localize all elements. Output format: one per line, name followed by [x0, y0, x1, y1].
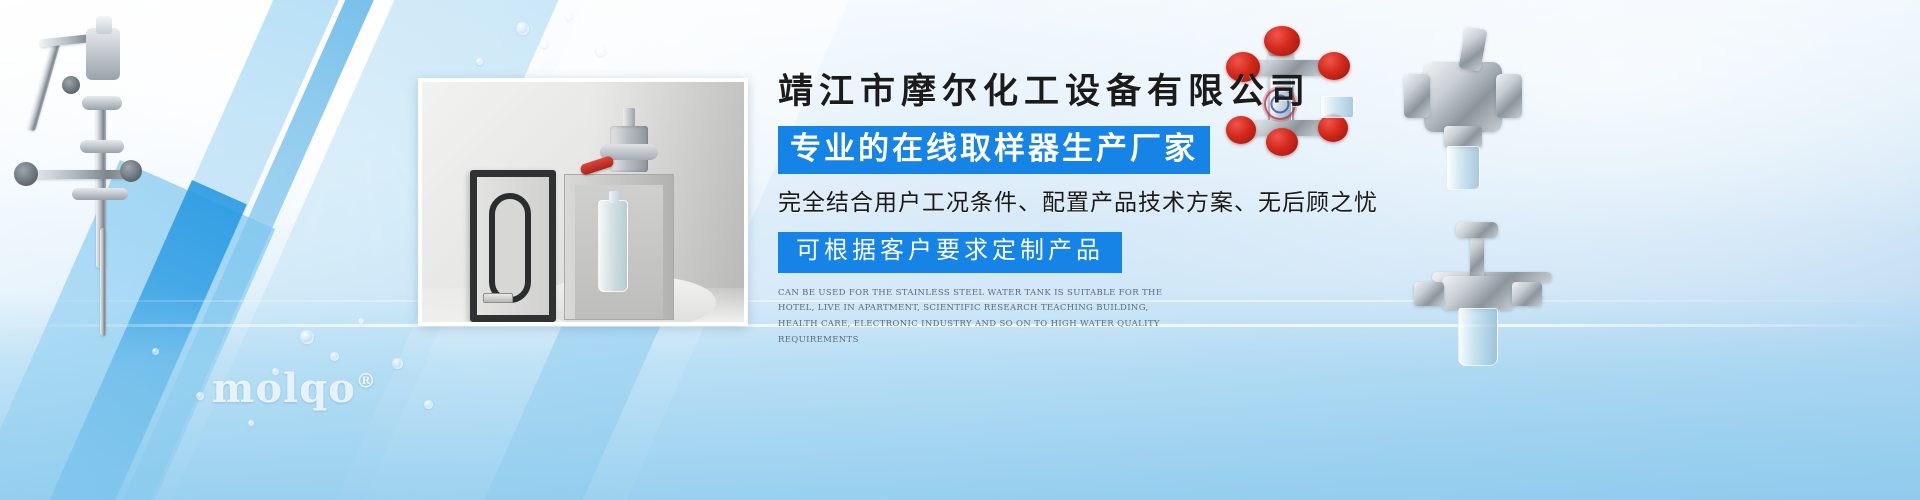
photo-valve-head [598, 108, 658, 182]
photo-door-latch [483, 293, 513, 303]
droplet-icon [596, 46, 606, 56]
valve-side-flange [1496, 74, 1522, 118]
promo-banner: 靖江市摩尔化工设备有限公司 专业的在线取样器生产厂家 完全结合用户工况条件、配置… [0, 0, 1920, 500]
sample-bottle [1446, 146, 1480, 190]
equipment-head-housing [86, 28, 120, 80]
equipment-flange [80, 140, 124, 153]
equipment-head-cap [96, 16, 112, 34]
photo-cabinet-door [470, 170, 556, 322]
watermark-text: molqo [212, 365, 356, 412]
valve-top-cap [1456, 222, 1498, 238]
fineprint-text: CAN BE USED FOR THE STAINLESS STEEL WATE… [778, 286, 1178, 349]
valve-top-flange [1268, 34, 1294, 56]
valve-stem [1470, 232, 1484, 278]
red-handwheel-icon [1264, 26, 1300, 56]
headline-badge: 专业的在线取样器生产厂家 [778, 126, 1210, 174]
watermark-registered-mark: ® [356, 369, 377, 393]
valve-side-flange [1404, 74, 1430, 118]
company-name: 靖江市摩尔化工设备有限公司 [778, 72, 1398, 112]
equipment-arm-top [40, 33, 106, 48]
photo-background [422, 82, 744, 322]
equipment-horizontal-pipe [24, 170, 136, 179]
pipe-support-rail [1432, 272, 1552, 282]
equipment-flange [82, 96, 122, 110]
valve-housing [1424, 62, 1502, 132]
tagline-badge: 可根据客户要求定制产品 [778, 232, 1122, 273]
equipment-flange [72, 188, 128, 200]
subline-text: 完全结合用户工况条件、配置产品技术方案、无后顾之忧 [778, 188, 1398, 218]
photo-door-window [489, 193, 531, 303]
equipment-handwheel-icon [62, 76, 80, 94]
banner-text-block: 靖江市摩尔化工设备有限公司 专业的在线取样器生产厂家 完全结合用户工况条件、配置… [778, 72, 1398, 348]
equipment-handwheel-icon [14, 162, 38, 186]
valve-lower-neck [1444, 126, 1482, 148]
photo-sample-bottle [598, 200, 628, 292]
equipment-arm-left [27, 41, 60, 132]
product-photo [418, 78, 748, 326]
watermark-logo: molqo® [212, 365, 377, 412]
equipment-vertical-pipe [96, 108, 106, 268]
valve-lever-handle [1459, 26, 1488, 71]
equipment-handwheel-icon [120, 160, 142, 182]
